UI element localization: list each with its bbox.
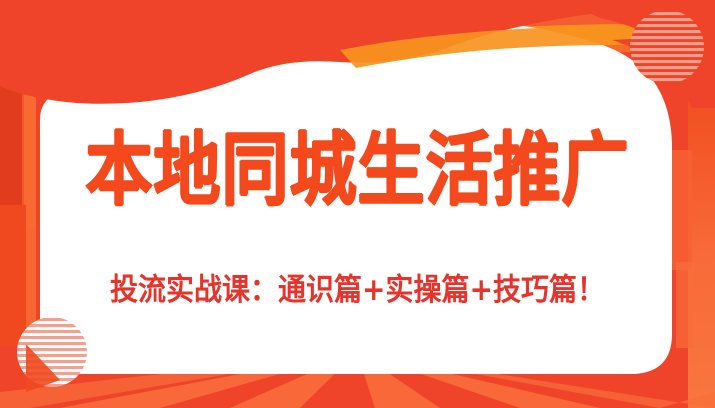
poster-title: 本地同城生活推广 bbox=[86, 130, 630, 211]
poster-canvas: 本地同城生活推广 投流实战课：通识篇+实操篇+技巧篇！ bbox=[0, 0, 715, 408]
poster-text: 本地同城生活推广 投流实战课：通识篇+实操篇+技巧篇！ bbox=[0, 0, 715, 408]
poster-subtitle: 投流实战课：通识篇+实操篇+技巧篇！ bbox=[110, 273, 605, 307]
